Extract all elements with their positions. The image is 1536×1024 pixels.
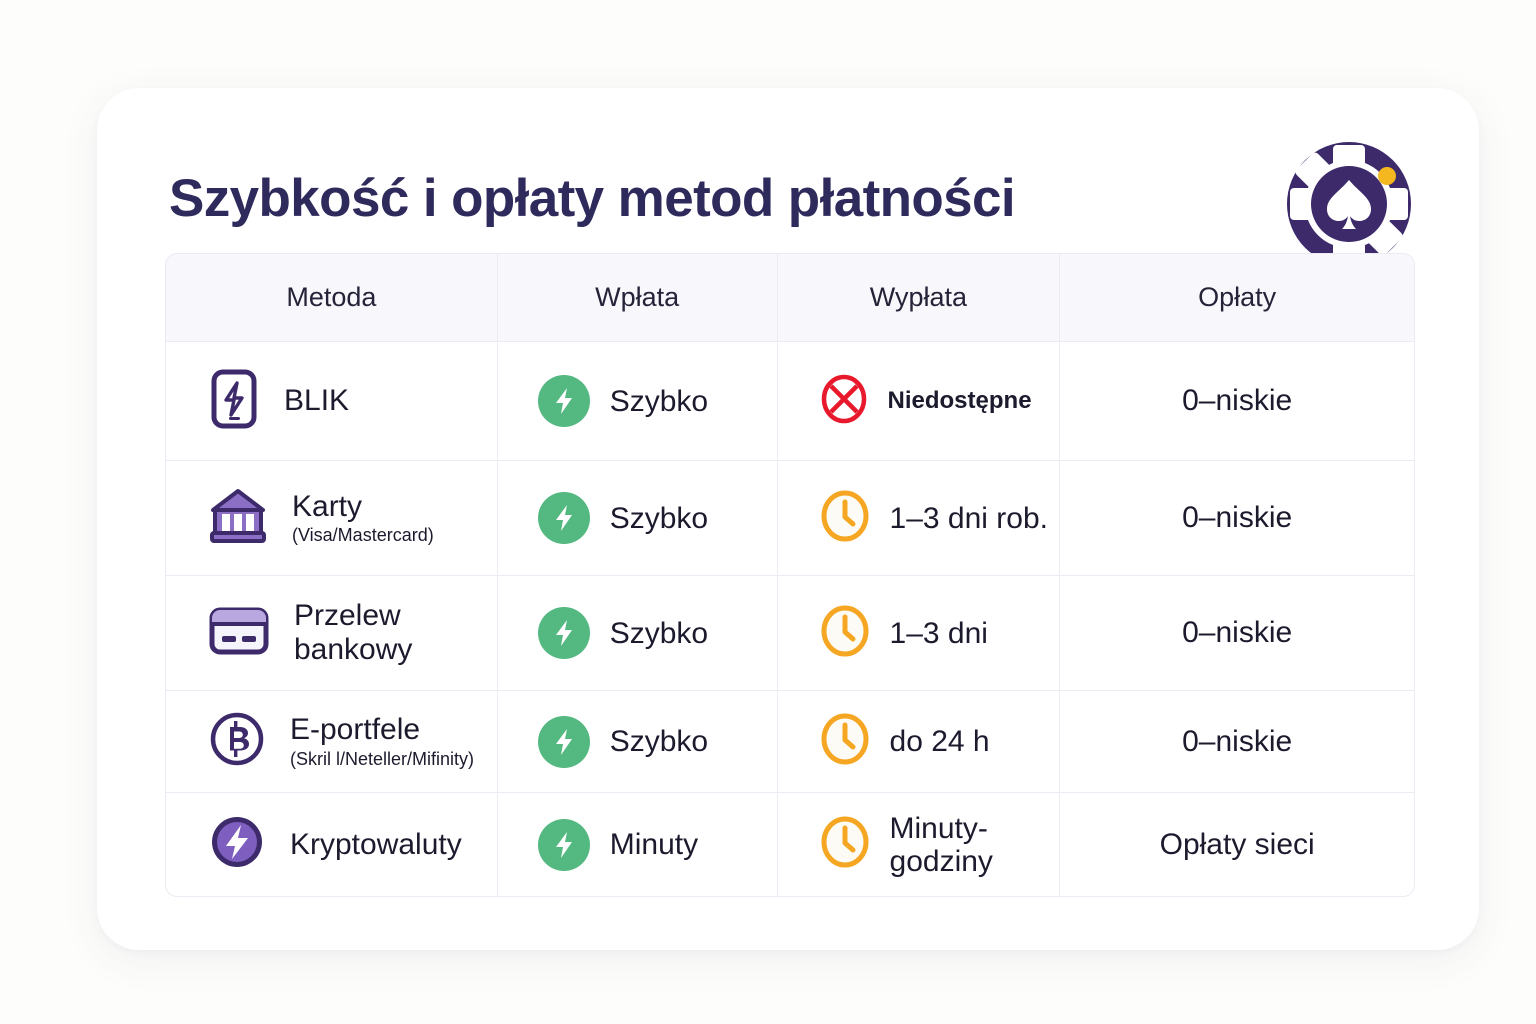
lightning-green-badge-icon <box>538 716 590 768</box>
table-header-row: Metoda Wpłata Wypłata Opłaty <box>166 254 1414 342</box>
method-sublabel: (Skril l/Neteller/Mifinity) <box>290 749 474 770</box>
lightning-green-badge-icon <box>538 607 590 659</box>
fees-label: 0–niskie <box>1182 384 1292 418</box>
column-header-deposit-label: Wpłata <box>595 282 679 313</box>
column-header-method: Metoda <box>166 254 498 341</box>
card-header: Szybkość i opłaty metod płatności <box>169 136 1417 271</box>
payment-methods-card: Szybkość i opłaty metod płatności <box>97 88 1479 950</box>
fees-cell: 0–niskie <box>1060 461 1414 575</box>
column-header-payout-label: Wypłata <box>870 282 967 313</box>
deposit-label: Szybko <box>610 502 708 535</box>
payout-label: Niedostępne <box>888 388 1032 414</box>
column-header-fees: Opłaty <box>1060 254 1414 341</box>
method-name: Karty <box>292 490 434 524</box>
bank-building-icon <box>208 486 268 551</box>
clock-orange-icon <box>820 489 870 548</box>
deposit-cell: Minuty <box>498 793 778 896</box>
deposit-cell: Szybko <box>498 461 778 575</box>
clock-orange-icon <box>820 712 870 771</box>
fees-cell: 0–niskie <box>1060 342 1414 460</box>
deposit-label: Szybko <box>610 725 708 758</box>
method-name: E-portfele <box>290 713 474 747</box>
lightning-green-badge-icon <box>538 492 590 544</box>
table-row: Przelew bankowy Szybko <box>166 576 1414 691</box>
column-header-deposit: Wpłata <box>498 254 778 341</box>
bitcoin-circle-icon <box>208 710 266 773</box>
method-name: Kryptowaluty <box>290 828 462 862</box>
circle-cross-red-icon <box>820 373 868 430</box>
payout-cell: do 24 h <box>778 691 1061 792</box>
method-name: BLIK <box>284 384 349 418</box>
method-cell: BLIK <box>166 342 498 460</box>
deposit-cell: Szybko <box>498 691 778 792</box>
fees-cell: 0–niskie <box>1060 576 1414 690</box>
method-sublabel: (Visa/Mastercard) <box>292 525 434 546</box>
deposit-label: Szybko <box>610 617 708 650</box>
poker-chip-spade-logo-icon <box>1281 136 1417 272</box>
fees-label: 0–niskie <box>1182 616 1292 650</box>
table-row: Kryptowaluty Minuty <box>166 793 1414 896</box>
deposit-cell: Szybko <box>498 576 778 690</box>
table-row: E-portfele (Skril l/Neteller/Mifinity) S… <box>166 691 1414 793</box>
payout-label: 1–3 dni <box>890 617 988 650</box>
fees-label: Opłaty sieci <box>1160 828 1315 862</box>
page-title: Szybkość i opłaty metod płatności <box>169 168 1015 229</box>
clock-orange-icon <box>820 815 870 874</box>
payout-label: do 24 h <box>890 725 990 758</box>
column-header-method-label: Metoda <box>286 282 376 313</box>
table-row: BLIK Szybko <box>166 342 1414 461</box>
payout-cell: 1–3 dni <box>778 576 1061 690</box>
lightning-green-badge-icon <box>538 819 590 871</box>
method-cell: Karty (Visa/Mastercard) <box>166 461 498 575</box>
payout-cell: 1–3 dni rob. <box>778 461 1061 575</box>
fees-label: 0–niskie <box>1182 501 1292 535</box>
method-name: Przelew bankowy <box>294 599 412 666</box>
method-cell: Przelew bankowy <box>166 576 498 690</box>
coin-lightning-purple-icon <box>208 813 266 876</box>
infographic-canvas: Szybkość i opłaty metod płatności <box>0 0 1536 1024</box>
payment-methods-table: Metoda Wpłata Wypłata Opłaty <box>165 253 1415 897</box>
lightning-green-badge-icon <box>538 375 590 427</box>
payout-cell: Minuty- godziny <box>778 793 1061 896</box>
column-header-fees-label: Opłaty <box>1198 282 1276 313</box>
payout-label: Minuty- godziny <box>890 812 993 878</box>
column-header-payout: Wypłata <box>778 254 1061 341</box>
clock-orange-icon <box>820 604 870 663</box>
fees-label: 0–niskie <box>1182 725 1292 759</box>
method-cell: E-portfele (Skril l/Neteller/Mifinity) <box>166 691 498 792</box>
payout-label: 1–3 dni rob. <box>890 502 1048 535</box>
credit-card-icon <box>208 605 270 662</box>
phone-lightning-icon <box>208 368 260 435</box>
table-row: Karty (Visa/Mastercard) Szybko <box>166 461 1414 576</box>
method-cell: Kryptowaluty <box>166 793 498 896</box>
payout-cell: Niedostępne <box>778 342 1061 460</box>
deposit-label: Szybko <box>610 385 708 418</box>
deposit-cell: Szybko <box>498 342 778 460</box>
fees-cell: Opłaty sieci <box>1060 793 1414 896</box>
fees-cell: 0–niskie <box>1060 691 1414 792</box>
deposit-label: Minuty <box>610 828 698 861</box>
